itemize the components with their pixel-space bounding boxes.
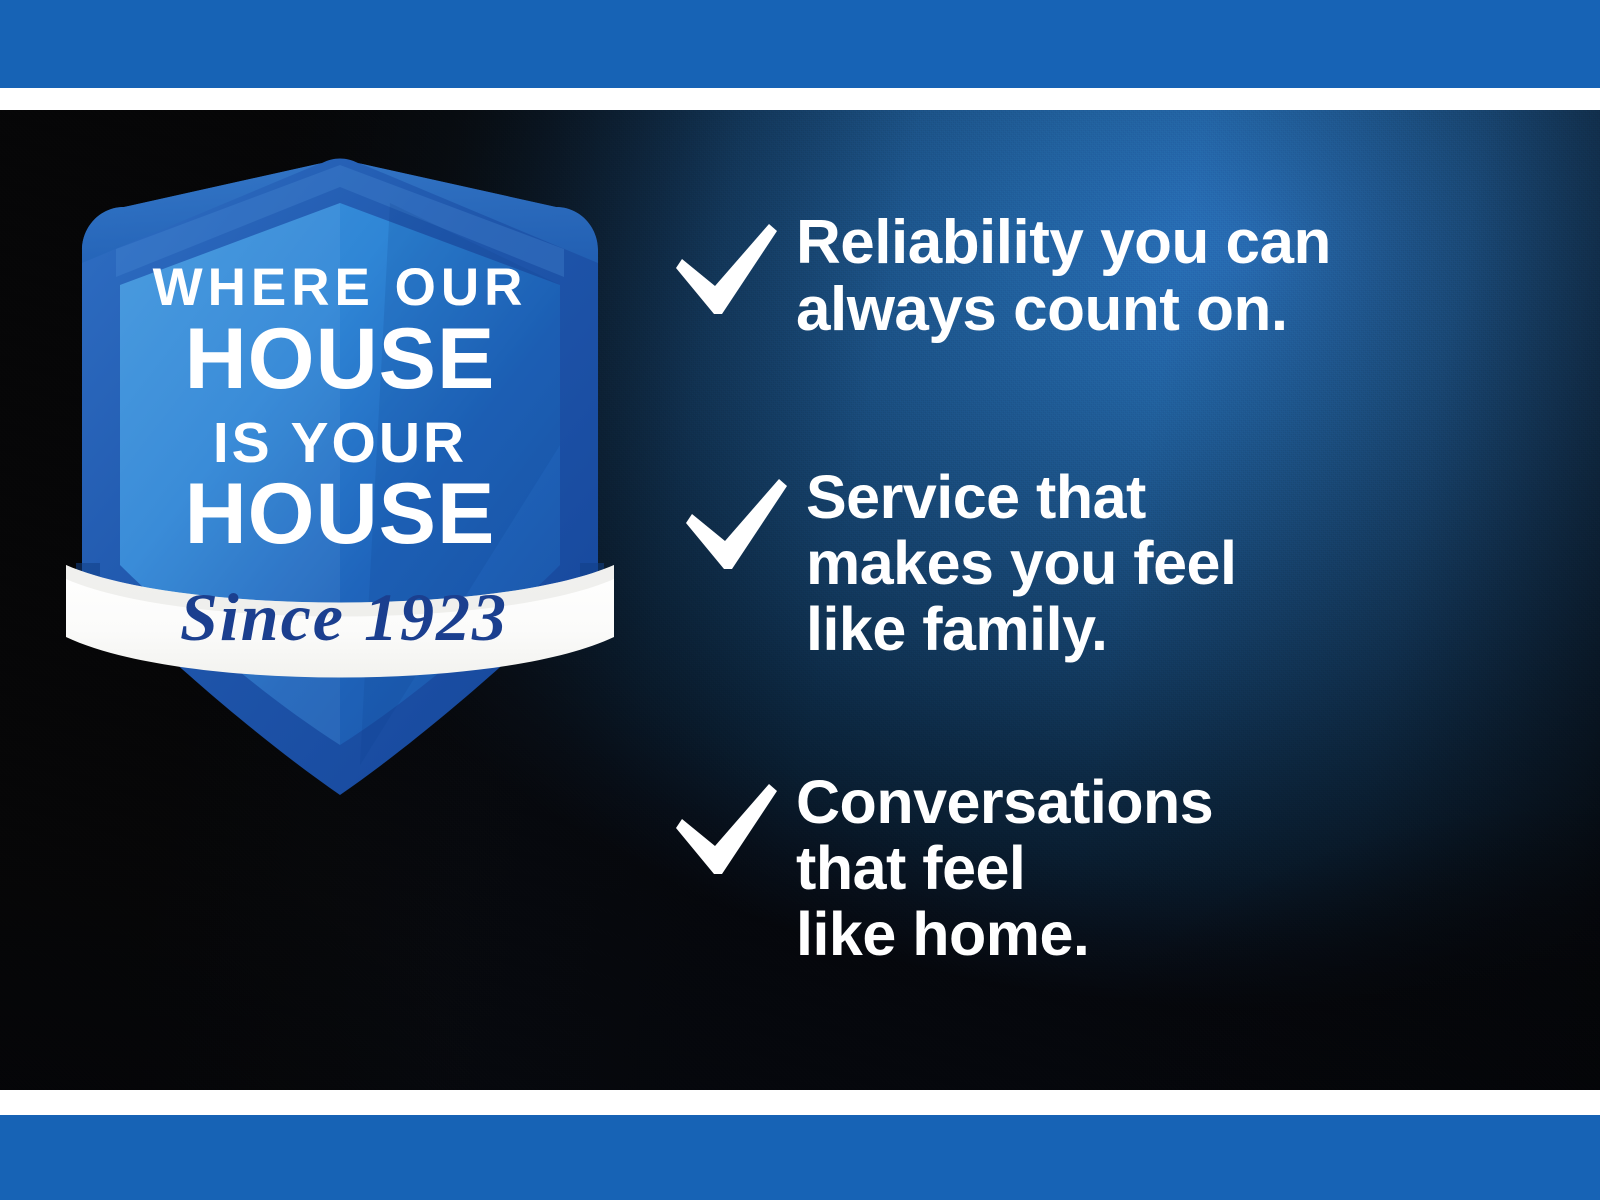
benefit-text-conversations: Conversations that feel like home. bbox=[796, 770, 1213, 968]
benefit-item-reliability: Reliability you can always count on. bbox=[670, 210, 1331, 344]
benefits-list: Reliability you can always count on. Ser… bbox=[660, 110, 1560, 1090]
logo-line-4: HOUSE bbox=[185, 466, 496, 562]
top-white-divider bbox=[0, 88, 1600, 110]
bottom-white-divider bbox=[0, 1093, 1600, 1115]
checkmark-icon bbox=[670, 770, 796, 882]
checkmark-icon bbox=[670, 210, 796, 322]
benefit-text-reliability: Reliability you can always count on. bbox=[796, 210, 1331, 344]
benefit-text-service: Service that makes you feel like family. bbox=[806, 465, 1236, 663]
benefit-item-service: Service that makes you feel like family. bbox=[680, 465, 1236, 663]
shield-logo-badge: WHERE OUR HOUSE IS YOUR HOUSE Since 1923 bbox=[60, 145, 620, 815]
benefit-item-conversations: Conversations that feel like home. bbox=[670, 770, 1213, 968]
top-brand-band bbox=[0, 0, 1600, 88]
bottom-brand-band bbox=[0, 1115, 1600, 1200]
promotional-banner: WHERE OUR HOUSE IS YOUR HOUSE Since 1923 bbox=[0, 0, 1600, 1200]
logo-line-1: WHERE OUR bbox=[153, 258, 528, 317]
logo-line-2: HOUSE bbox=[185, 311, 496, 407]
ribbon-since-text: Since 1923 bbox=[180, 579, 508, 655]
checkmark-icon bbox=[680, 465, 806, 577]
